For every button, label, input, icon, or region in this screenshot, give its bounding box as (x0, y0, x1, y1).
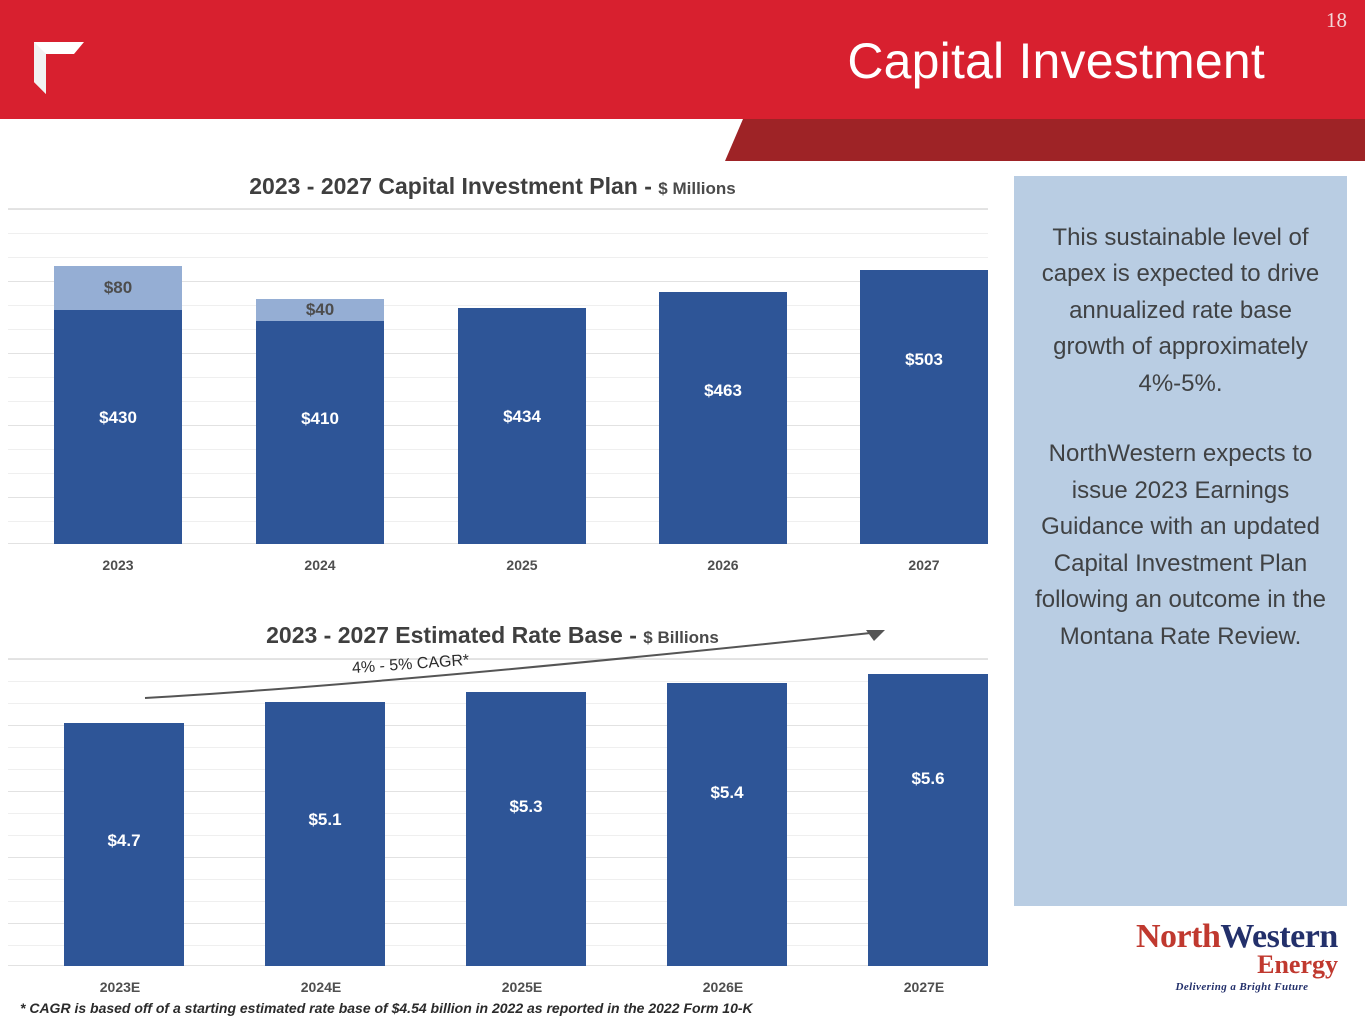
chart2-xtick-2027e: 2027E (860, 979, 988, 995)
chart2-bar-2024e-segment: $5.1 (265, 702, 385, 966)
chart2-xtick-2023e: 2023E (56, 979, 184, 995)
brand-wordmark: NorthWestern (1136, 920, 1348, 954)
commentary-panel: This sustainable level of capex is expec… (1014, 176, 1347, 906)
chart2-cagr-arrow-icon (140, 620, 920, 700)
commentary-paragraph-1: This sustainable level of capex is expec… (1014, 176, 1347, 402)
chart2-bar-2026e[interactable]: $5.4 (667, 683, 787, 966)
page-title: Capital Investment (847, 32, 1265, 90)
chart2-bar-2023e-label: $4.7 (64, 831, 184, 851)
commentary-paragraph-2: NorthWestern expects to issue 2023 Earni… (1014, 402, 1347, 655)
page-number: 18 (1326, 8, 1347, 33)
chart2-xtick-2024e: 2024E (257, 979, 385, 995)
chart2-bar-2024e[interactable]: $5.1 (265, 702, 385, 966)
header-accent-shape (725, 119, 1365, 161)
northwestern-energy-logo: NorthWestern Energy Delivering a Bright … (1136, 920, 1348, 998)
corner-bracket-logo-icon (22, 22, 94, 98)
chart2-plot-area: $4.7 $5.1 $5.3 $5.4 $5.6 (8, 658, 988, 966)
chart2-bar-2026e-label: $5.4 (667, 783, 787, 803)
chart2-bar-2027e-label: $5.6 (868, 769, 988, 789)
chart2-bar-2025e-label: $5.3 (466, 797, 586, 817)
chart2-bar-2027e-segment: $5.6 (868, 674, 988, 966)
chart2-bar-2026e-segment: $5.4 (667, 683, 787, 966)
brand-word-north: North (1136, 918, 1220, 955)
cagr-footnote: * CAGR is based off of a starting estima… (20, 1000, 753, 1016)
chart2-bar-2023e[interactable]: $4.7 (64, 723, 184, 966)
chart2-xtick-2026e: 2026E (659, 979, 787, 995)
chart2-bar-2024e-label: $5.1 (265, 810, 385, 830)
header-accent-strip (0, 119, 1365, 161)
brand-word-energy: Energy (1136, 952, 1348, 978)
chart2-bar-2027e[interactable]: $5.6 (868, 674, 988, 966)
chart2-bar-2025e[interactable]: $5.3 (466, 692, 586, 966)
chart2-bar-2025e-segment: $5.3 (466, 692, 586, 966)
chart2-xtick-2025e: 2025E (458, 979, 586, 995)
chart2-bar-2023e-segment: $4.7 (64, 723, 184, 966)
brand-tagline: Delivering a Bright Future (1136, 981, 1348, 993)
